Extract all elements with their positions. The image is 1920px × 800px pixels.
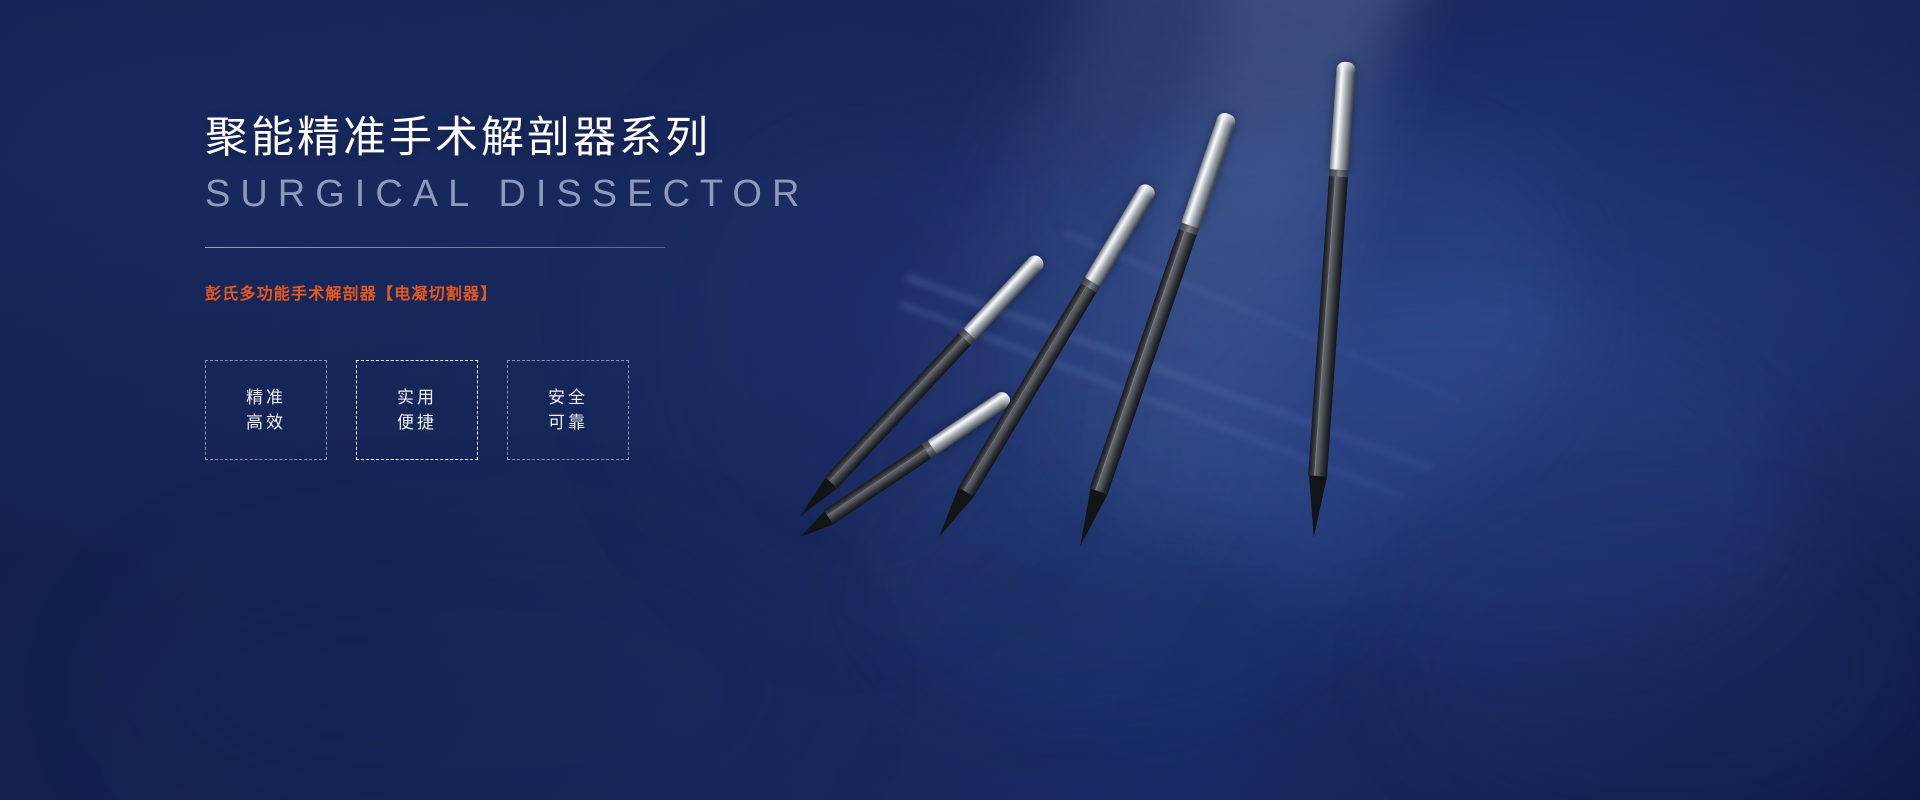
- banner-text-block: 聚能精准手术解剖器系列 SURGICAL DISSECTOR 彭氏多功能手术解剖…: [205, 112, 965, 460]
- product-name-label: 彭氏多功能手术解剖器【电凝切割器】: [205, 280, 965, 304]
- instrument-handle: [1181, 111, 1237, 229]
- instrument-collar: [1081, 277, 1100, 292]
- title-divider: [205, 247, 665, 248]
- feature-line-1: 精准: [246, 389, 286, 406]
- instrument-collar: [1329, 169, 1348, 177]
- feature-box-practical[interactable]: 实用 便捷: [356, 360, 478, 460]
- instrument-shaft: [1308, 176, 1348, 477]
- instrument-handle: [1329, 61, 1355, 170]
- instrument-handle: [1085, 181, 1158, 286]
- instrument-tip: [794, 477, 837, 522]
- ghost-shape-drape: [1400, 520, 1920, 800]
- instrument-tip: [932, 487, 974, 541]
- ghost-shape-hand: [973, 51, 1627, 609]
- ghost-instrument-1: [903, 272, 1432, 472]
- instrument-tip: [1304, 475, 1326, 538]
- product-hero-banner: 聚能精准手术解剖器系列 SURGICAL DISSECTOR 彭氏多功能手术解剖…: [0, 0, 1920, 800]
- surgical-dissector-4: [1071, 111, 1238, 549]
- feature-line-2: 可靠: [548, 414, 588, 431]
- surgical-dissector-3: [932, 181, 1158, 541]
- ghost-shape-arm: [1158, 259, 1822, 702]
- instrument-handle: [963, 252, 1046, 340]
- feature-line-1: 实用: [397, 389, 437, 406]
- ghost-instrument-3: [1064, 230, 1462, 404]
- instrument-tip: [1071, 488, 1107, 549]
- feature-box-group: 精准 高效 实用 便捷 安全 可靠: [205, 360, 965, 460]
- instrument-collar: [1179, 222, 1199, 235]
- feature-line-1: 安全: [548, 389, 588, 406]
- surgical-dissector-5: [1304, 61, 1356, 538]
- instrument-tip: [796, 511, 833, 543]
- banner-title-en: SURGICAL DISSECTOR: [205, 172, 965, 217]
- banner-title-cn: 聚能精准手术解剖器系列: [205, 112, 965, 164]
- instrument-shaft: [1090, 229, 1197, 494]
- feature-box-safety[interactable]: 安全 可靠: [507, 360, 629, 460]
- ghost-shape-haze-bottom: [120, 540, 820, 800]
- light-beam-secondary-icon: [1083, 0, 1456, 590]
- instrument-shaft: [958, 283, 1096, 496]
- feature-line-2: 高效: [246, 414, 286, 431]
- feature-line-2: 便捷: [397, 414, 437, 431]
- ghost-instrument-2: [899, 300, 1406, 500]
- feature-box-precision[interactable]: 精准 高效: [205, 360, 327, 460]
